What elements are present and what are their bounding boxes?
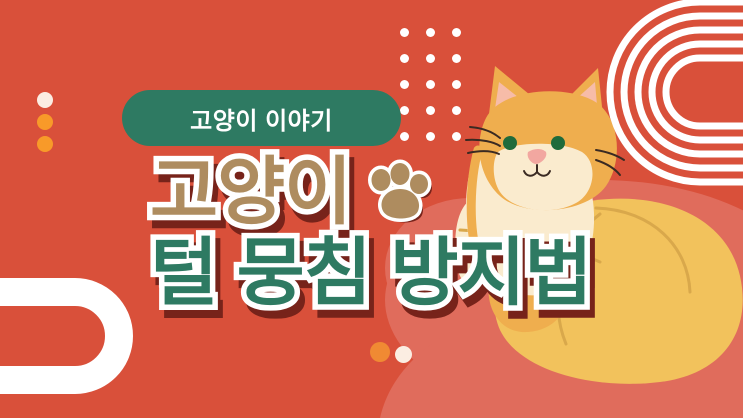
category-badge-label: 고양이 이야기 (190, 101, 333, 136)
category-badge: 고양이 이야기 (122, 90, 401, 146)
headline-line-1-fill: 고양이 (150, 150, 351, 233)
headline-line-2-row: 털 뭉침 방지법 털 뭉침 방지법 (150, 226, 620, 320)
grid-dot (426, 106, 435, 115)
grid-dot (452, 132, 461, 141)
grid-dot (426, 28, 435, 37)
grid-dot (426, 54, 435, 63)
headline-line-2: 털 뭉침 방지법 털 뭉침 방지법 (150, 236, 592, 310)
paw-print-icon (365, 159, 437, 225)
grid-dot (400, 54, 409, 63)
orange-dot (37, 136, 53, 152)
grid-dot (400, 28, 409, 37)
grid-dot (452, 80, 461, 89)
grid-dot (452, 106, 461, 115)
stadium-outline-shape (0, 292, 119, 380)
grid-dot (426, 80, 435, 89)
headline-block: 고양이 고양이 (150, 146, 620, 320)
left-dot-column (37, 92, 53, 158)
concentric-arc-rings (610, 2, 743, 182)
headline-line-1: 고양이 고양이 (150, 155, 351, 229)
headline-line-1-row: 고양이 고양이 (150, 146, 620, 238)
poster-canvas: 고양이 이야기 고양이 고양이 (0, 0, 743, 418)
grid-dot (400, 132, 409, 141)
grid-dot (400, 106, 409, 115)
orange-dot (370, 342, 390, 362)
orange-dot (37, 114, 53, 130)
grid-dot (452, 28, 461, 37)
grid-dot (400, 80, 409, 89)
grid-dot (426, 132, 435, 141)
cream-dot (395, 346, 412, 363)
cream-dot (37, 92, 53, 108)
grid-dot (452, 54, 461, 63)
headline-line-2-fill: 털 뭉침 방지법 (150, 231, 592, 314)
dot-grid-pattern (400, 28, 478, 158)
